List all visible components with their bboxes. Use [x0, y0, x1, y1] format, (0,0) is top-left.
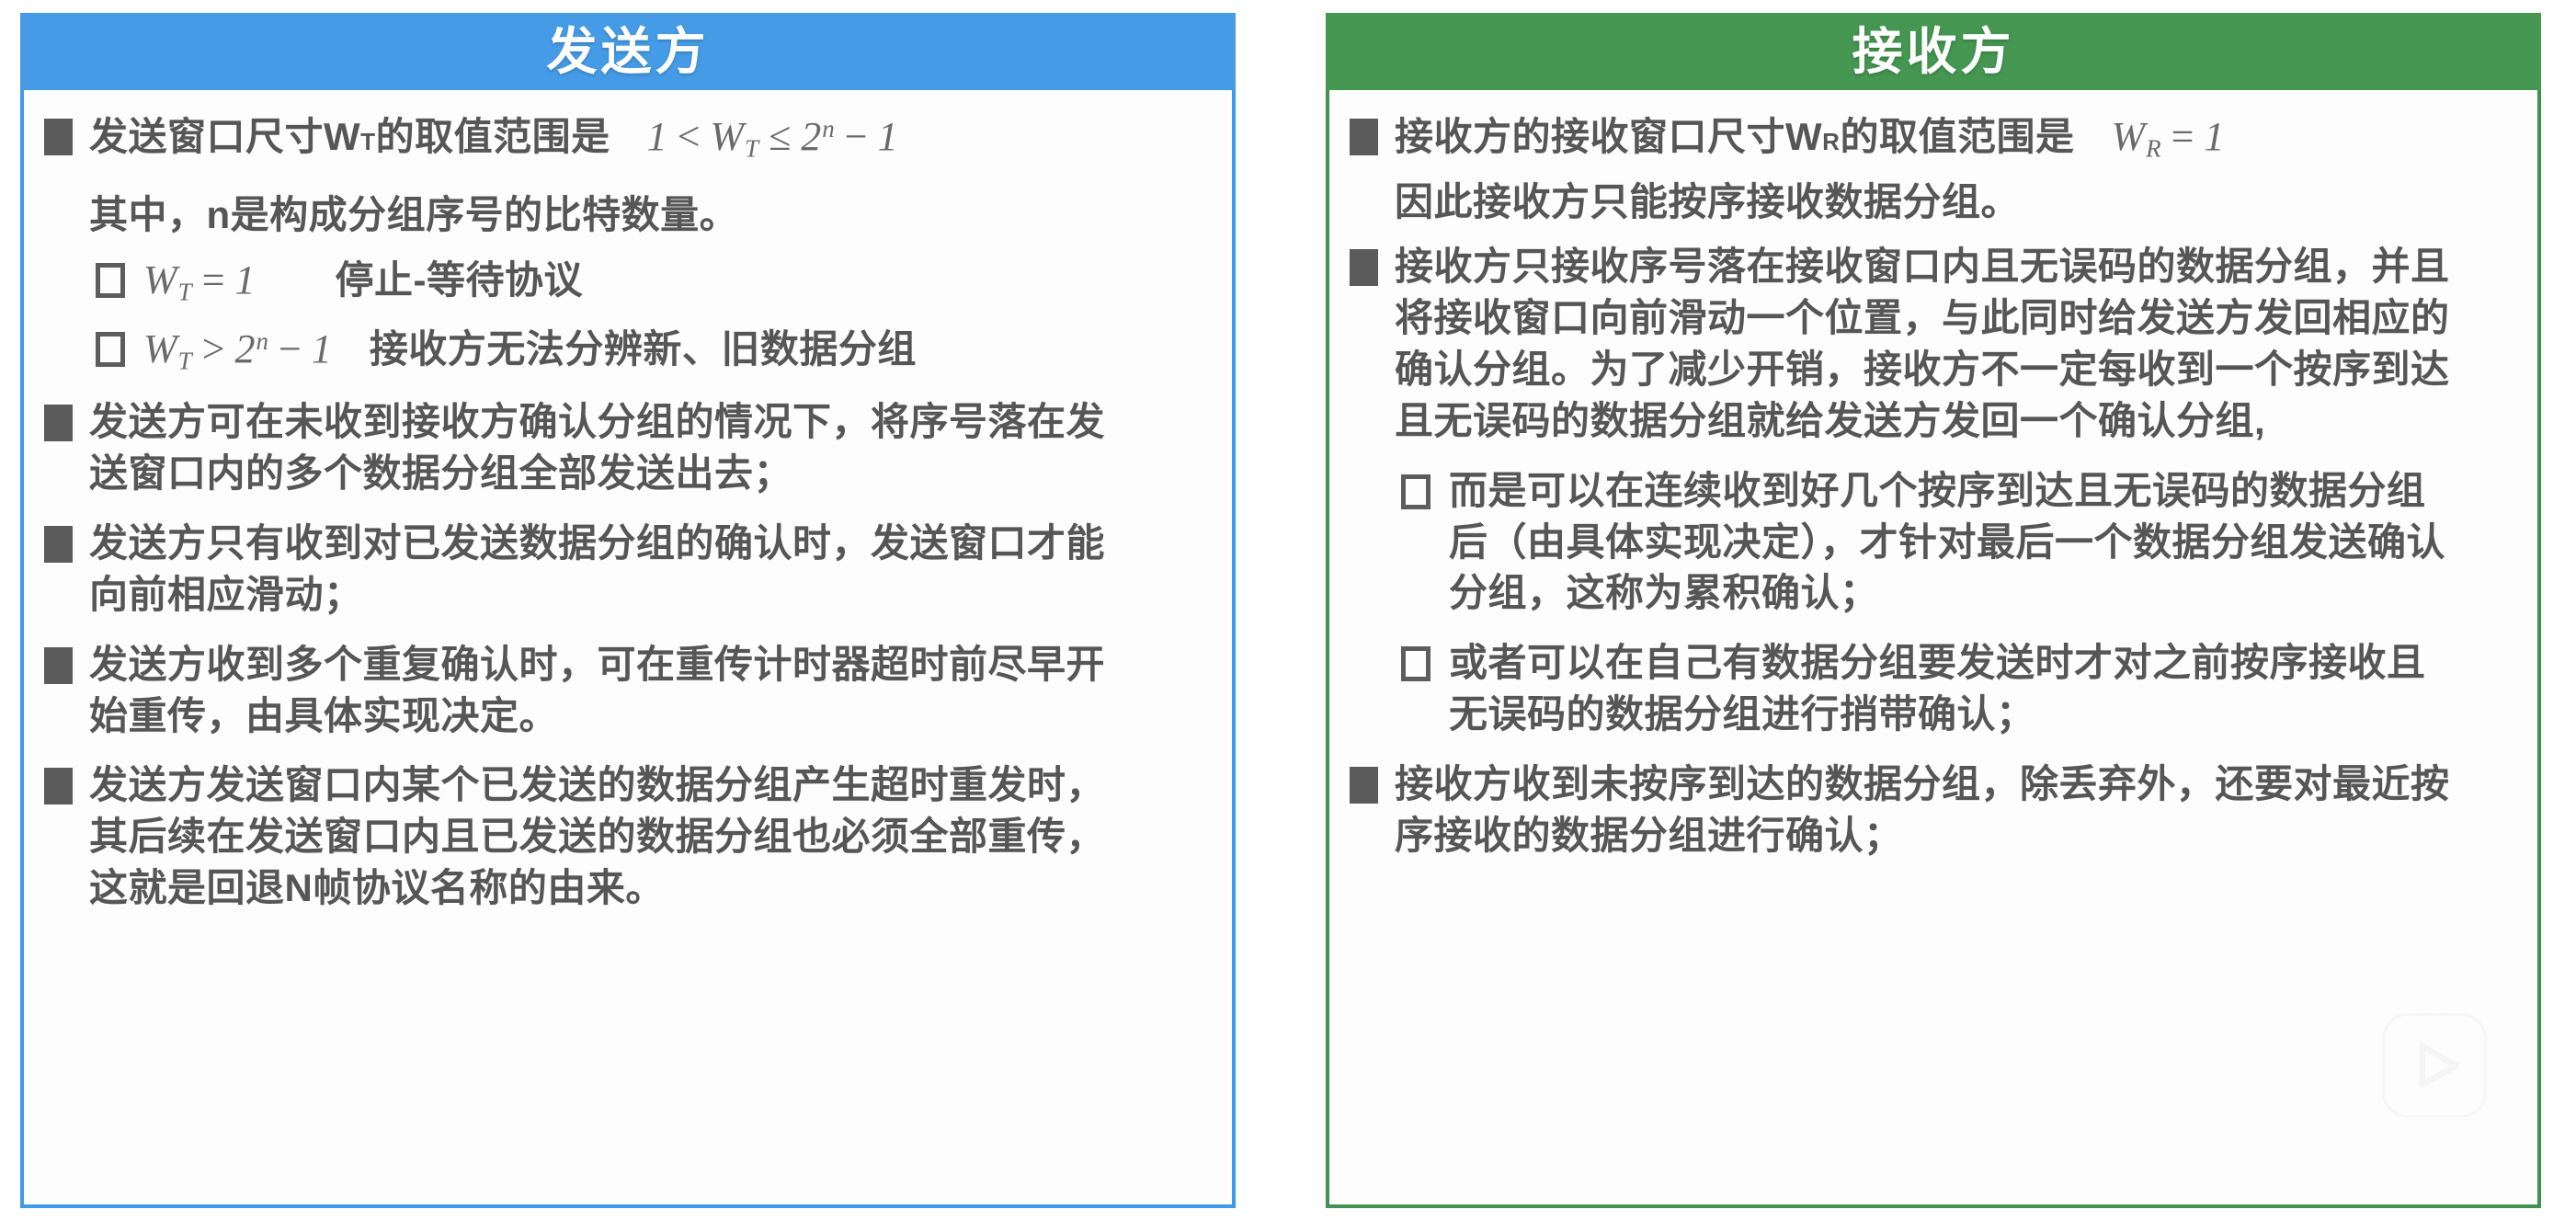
sender-window-size-subscript: T [360, 126, 375, 158]
sender-panel-body: 发送窗口尺寸WT的取值范围是 1<WT≤2n−1 其中，n是构成分组序号的比特数… [20, 90, 1236, 1208]
sender-window-size-label-before: 发送窗口尺寸W [89, 111, 360, 163]
list-item: 发送方可在未收到接收方确认分组的情况下，将序号落在发送窗口内的多个数据分组全部发… [40, 396, 1208, 499]
bullet-text: 发送方可在未收到接收方确认分组的情况下，将序号落在发送窗口内的多个数据分组全部发… [89, 396, 1137, 499]
list-item: 发送方收到多个重复确认时，可在重传计时器超时前尽早开始重传，由具体实现决定。 [40, 639, 1208, 742]
sender-panel: 发送方 发送窗口尺寸WT的取值范围是 1<WT≤2n−1 其中，n是构成分组序号… [20, 13, 1236, 1208]
list-item: 发送方发送窗口内某个已发送的数据分组产生超时重发时，其后续在发送窗口内且已发送的… [40, 759, 1208, 914]
bullet-text: WT>2n−1 接收方无法分辨新、旧数据分组 [143, 323, 917, 378]
filled-square-bullet-icon [44, 526, 73, 563]
slide-canvas: 发送方 发送窗口尺寸WT的取值范围是 1<WT≤2n−1 其中，n是构成分组序号… [0, 0, 2576, 1221]
receiver-window-size-label-after: 的取值范围是 [1840, 111, 2074, 163]
bullet-text: 发送窗口尺寸WT的取值范围是 1<WT≤2n−1 其中，n是构成分组序号的比特数… [89, 110, 899, 241]
bullet-text: 而是可以在连续收到好几个按序到达且无误码的数据分组后（由具体实现决定），才针对最… [1449, 465, 2460, 620]
receiver-panel-body: 接收方的接收窗口尺寸WR的取值范围是 WR=1 因此接收方只能按序接收数据分组。… [1326, 90, 2541, 1208]
bullet-text: 接收方的接收窗口尺寸WR的取值范围是 WR=1 因此接收方只能按序接收数据分组。 [1395, 110, 2225, 228]
receiver-inorder-note: 因此接收方只能按序接收数据分组。 [1395, 177, 2225, 228]
math-wr-equals-one: WR=1 [2111, 110, 2225, 165]
filled-square-bullet-icon [44, 647, 73, 684]
list-item: 接收方只接收序号落在接收窗口内且无误码的数据分组，并且将接收窗口向前滑动一个位置… [1346, 241, 2513, 446]
filled-square-bullet-icon [44, 768, 73, 804]
sender-window-size-label-after: 的取值范围是 [376, 111, 610, 163]
filled-square-bullet-icon [44, 405, 73, 441]
hollow-square-bullet-icon [96, 332, 125, 367]
math-wt-range: 1<WT≤2n−1 [647, 110, 899, 165]
receiver-panel-header: 接收方 [1326, 13, 2541, 90]
math-wt-equals-one: WT=1 [143, 254, 256, 309]
sender-panel-header: 发送方 [20, 13, 1236, 90]
filled-square-bullet-icon [1350, 767, 1378, 804]
list-item: 接收方的接收窗口尺寸WR的取值范围是 WR=1 因此接收方只能按序接收数据分组。 [1346, 110, 2513, 228]
cannot-distinguish-label: 接收方无法分辨新、旧数据分组 [370, 324, 917, 375]
receiver-window-size-subscript: R [1822, 126, 1840, 158]
receiver-window-size-label-before: 接收方的接收窗口尺寸W [1395, 111, 1822, 163]
list-item: 发送方只有收到对已发送数据分组的确认时，发送窗口才能向前相应滑动； [40, 518, 1208, 621]
list-item: WT=1 停止-等待协议 [92, 254, 1208, 309]
bullet-text: 发送方只有收到对已发送数据分组的确认时，发送窗口才能向前相应滑动； [89, 518, 1137, 621]
hollow-square-bullet-icon [96, 263, 125, 298]
bullet-text: 接收方收到未按序到达的数据分组，除丢弃外，还要对最近按序接收的数据分组进行确认； [1395, 759, 2461, 862]
hollow-square-bullet-icon [1401, 646, 1430, 681]
bullet-text: 发送方收到多个重复确认时，可在重传计时器超时前尽早开始重传，由具体实现决定。 [89, 639, 1137, 742]
bullet-text: 发送方发送窗口内某个已发送的数据分组产生超时重发时，其后续在发送窗口内且已发送的… [89, 759, 1137, 914]
filled-square-bullet-icon [44, 119, 73, 155]
filled-square-bullet-icon [1350, 249, 1378, 286]
list-item: WT>2n−1 接收方无法分辨新、旧数据分组 [92, 323, 1208, 378]
stop-and-wait-protocol-label: 停止-等待协议 [336, 255, 584, 306]
sender-panel-title: 发送方 [546, 27, 709, 77]
hollow-square-bullet-icon [1401, 474, 1430, 509]
bilibili-logo-watermark [2374, 989, 2495, 1127]
filled-square-bullet-icon [1350, 119, 1378, 155]
list-item: 接收方收到未按序到达的数据分组，除丢弃外，还要对最近按序接收的数据分组进行确认； [1346, 759, 2513, 862]
bullet-text: WT=1 停止-等待协议 [143, 254, 583, 309]
list-item: 而是可以在连续收到好几个按序到达且无误码的数据分组后（由具体实现决定），才针对最… [1397, 465, 2513, 620]
bullet-text: 接收方只接收序号落在接收窗口内且无误码的数据分组，并且将接收窗口向前滑动一个位置… [1395, 241, 2461, 446]
bullet-text: 或者可以在自己有数据分组要发送时才对之前按序接收且无误码的数据分组进行捎带确认； [1449, 637, 2460, 740]
sender-n-definition: 其中，n是构成分组序号的比特数量。 [89, 189, 899, 241]
receiver-panel-title: 接收方 [1852, 27, 2014, 77]
receiver-panel: 接收方 接收方的接收窗口尺寸WR的取值范围是 WR=1 因此接收方只能按序接收数… [1326, 13, 2541, 1208]
list-item: 或者可以在自己有数据分组要发送时才对之前按序接收且无误码的数据分组进行捎带确认； [1397, 637, 2513, 740]
math-wt-greater-than: WT>2n−1 [143, 323, 333, 378]
list-item: 发送窗口尺寸WT的取值范围是 1<WT≤2n−1 其中，n是构成分组序号的比特数… [40, 110, 1208, 241]
